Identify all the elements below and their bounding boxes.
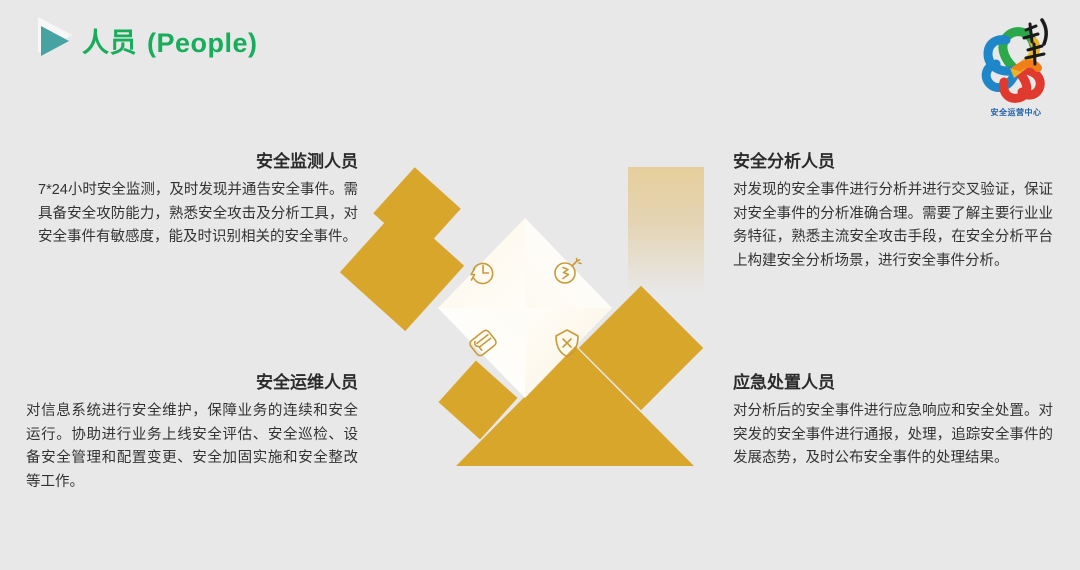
- beidou-soc-logo: 安全运营中心: [970, 14, 1062, 118]
- text-block-emergency-response: 应急处置人员 对分析后的安全事件进行应急响应和安全处置。对突发的安全事件进行通报…: [733, 373, 1053, 471]
- play-triangle-main: [41, 26, 69, 56]
- slide-title-row: 人员(People): [30, 16, 258, 64]
- page-title-cn: 人员: [82, 28, 137, 58]
- logo-mark-icon: [970, 14, 1062, 118]
- play-triangle-icon: [30, 17, 82, 63]
- block-heading-security-analyst: 安全分析人员: [733, 152, 1053, 172]
- block-body-security-analyst: 对发现的安全事件进行分析并进行交叉验证，保证对安全事件的分析准确合理。需要了解主…: [733, 179, 1053, 273]
- logo-caption: 安全运营中心: [970, 107, 1062, 118]
- page-title-en: (People): [147, 28, 258, 58]
- page-title: 人员(People): [82, 21, 258, 60]
- tangram-diamond-graphic: [350, 150, 740, 490]
- bomb-threat-icon: [550, 254, 584, 288]
- faded-rectangle-shape: [628, 167, 704, 293]
- block-heading-security-ops: 安全运维人员: [26, 373, 358, 393]
- block-body-security-ops: 对信息系统进行安全维护，保障业务的连续和安全运行。协助进行业务上线安全评估、安全…: [26, 400, 358, 494]
- block-body-emergency-response: 对分析后的安全事件进行应急响应和安全处置。对突发的安全事件进行通报，处理，追踪安…: [733, 400, 1053, 470]
- block-body-security-monitor: 7*24小时安全监测，及时发现并通告安全事件。需具备安全攻防能力，熟悉安全攻击及…: [38, 179, 358, 249]
- slide-canvas: 人员(People) 安全运营中心 安全监测人员 7: [0, 0, 1080, 570]
- center-diamond: [438, 218, 612, 398]
- block-heading-emergency-response: 应急处置人员: [733, 373, 1053, 393]
- diamond-quadrant-top-left: [438, 218, 525, 308]
- toolbox-wrench-icon: [466, 326, 500, 360]
- text-block-security-ops: 安全运维人员 对信息系统进行安全维护，保障业务的连续和安全运行。协助进行业务上线…: [26, 373, 358, 494]
- block-heading-security-monitor: 安全监测人员: [38, 152, 358, 172]
- shield-close-icon: [550, 326, 584, 360]
- text-block-security-monitor: 安全监测人员 7*24小时安全监测，及时发现并通告安全事件。需具备安全攻防能力，…: [38, 152, 358, 250]
- diamond-quadrant-bottom-right: [525, 308, 612, 398]
- clock-lightning-icon: [466, 256, 500, 290]
- diamond-quadrant-bottom-left: [438, 308, 525, 398]
- text-block-security-analyst: 安全分析人员 对发现的安全事件进行分析并进行交叉验证，保证对安全事件的分析准确合…: [733, 152, 1053, 273]
- diamond-quadrant-top-right: [525, 218, 612, 308]
